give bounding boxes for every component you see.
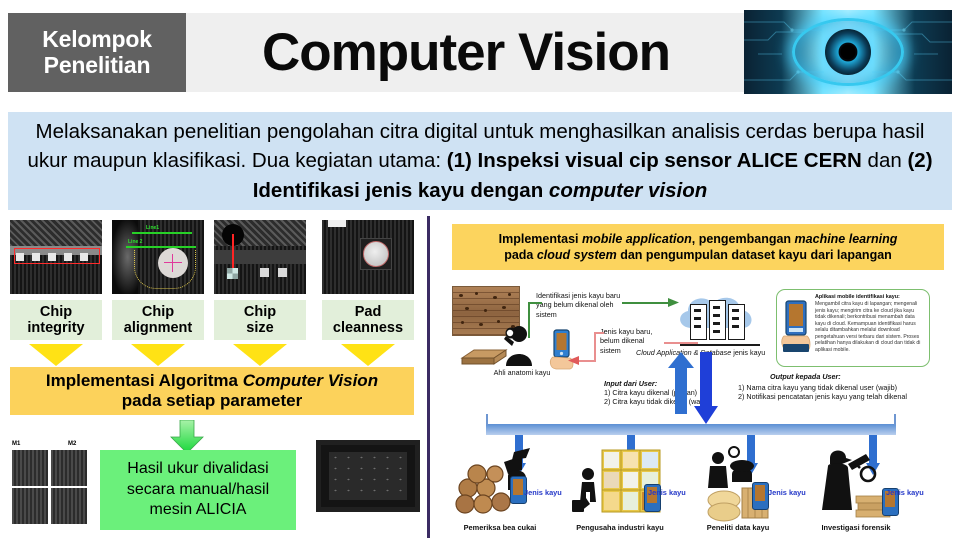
cyber-eye-icon: [744, 10, 952, 94]
obox-f: cloud system: [537, 248, 617, 262]
persona-tag-3: Jenis kayu: [768, 488, 806, 497]
m-cell-2: [51, 450, 87, 486]
thumb-chip-integrity: [10, 220, 102, 294]
thumb-chip-alignment: Line1 Line 2: [112, 220, 204, 294]
pad-a: [260, 268, 269, 277]
obox-c: , pengembangan: [692, 232, 795, 246]
description-mid: dan: [862, 149, 908, 172]
persona-tag-1: Jenis kayu: [524, 488, 562, 497]
server-base: [680, 344, 760, 346]
persona-label-2: Pengusaha industri kayu: [560, 523, 680, 532]
red-connector-h0: [594, 332, 604, 334]
label-line-1: Pad: [355, 304, 382, 320]
ybox-line-1: Implementasi Algoritma Computer Vision: [46, 371, 378, 391]
bar-stub-right: [894, 414, 896, 425]
header: Kelompok Penelitian Computer Vision: [0, 0, 960, 103]
sensor-module-photo: [316, 440, 420, 512]
yellow-arrow-3-icon: [233, 344, 287, 366]
obox-line-2: pada cloud system dan pengumpulan datase…: [504, 247, 892, 263]
cloud-label-rest: jenis kayu: [731, 348, 765, 357]
persona-phone-icon: [752, 482, 769, 510]
red-connector-v: [594, 332, 596, 362]
label-line-1: Chip: [244, 304, 276, 320]
label-chip-integrity: Chip integrity: [10, 300, 102, 340]
yellow-arrow-4-icon: [341, 344, 395, 366]
wood-plank-icon: [460, 344, 508, 368]
badge-line-2: Penelitian: [44, 53, 151, 79]
m2-label: M2: [68, 441, 76, 447]
thumbnail-strip: Line1 Line 2 Chip integrity: [0, 220, 424, 340]
persona-label-1: Pemeriksa bea cukai: [440, 523, 560, 532]
algorithm-implementation-box: Implementasi Algoritma Computer Vision p…: [10, 367, 414, 415]
label-pad-cleanness: Pad cleanness: [322, 300, 414, 340]
phone-in-hand-icon: [781, 300, 811, 354]
sensor-module-surface: [329, 452, 407, 500]
red-arrowhead-icon: [568, 355, 579, 366]
pad-b: [278, 268, 287, 277]
line2-label: Line 2: [128, 239, 142, 245]
description-italic-2: computer vision: [549, 179, 707, 202]
description-bold-1: (1) Inspeksi visual cip sensor ALICE CER…: [447, 149, 862, 172]
m-grid-image: M1 M2 M3 M4: [10, 440, 88, 528]
persona-forensic: [812, 444, 920, 530]
persona-timber: [572, 444, 680, 530]
validation-result-box: Hasil ukur divalidasi secara manual/hasi…: [100, 450, 296, 530]
yellow-arrow-2-icon: [131, 344, 185, 366]
contour-trace: [134, 250, 196, 289]
line1-marker: [132, 232, 192, 234]
persona-customs: [452, 444, 560, 530]
bar-stub-left: [486, 414, 488, 425]
gbox-line-2: secara manual/hasil: [127, 480, 269, 500]
timber-industry-icon: [572, 444, 680, 530]
obox-g: dan pengumpulan dataset kayu dari lapang…: [617, 248, 892, 262]
measure-marker: [227, 268, 238, 279]
ybox-line-2: pada setiap parameter: [122, 391, 302, 411]
persona-tag-4: Jenis kayu: [886, 488, 924, 497]
green-note: Identifikasi jenis kayu baru yang belum …: [536, 291, 622, 319]
download-arrow-icon: [694, 352, 718, 424]
green-connector-h2: [622, 302, 674, 304]
thumb-chip-size: [214, 220, 306, 294]
roi-rectangle-icon: [14, 248, 100, 264]
research-group-badge: Kelompok Penelitian: [8, 13, 186, 92]
slide-root: Kelompok Penelitian Computer Vision: [0, 0, 960, 540]
persona-label-3: Peneliti data kayu: [678, 523, 798, 532]
forensic-investigator-icon: [812, 444, 920, 530]
label-line-2: alignment: [124, 320, 192, 336]
input-title: Input dari User:: [604, 379, 657, 388]
thumb-pad-cleanness: [322, 220, 414, 294]
green-arrow-icon: [170, 420, 204, 454]
persona-tag-2: Jenis kayu: [648, 488, 686, 497]
yellow-arrow-1-icon: [29, 344, 83, 366]
app-card-title: Aplikasi mobile identifikasi kayu:: [815, 294, 925, 300]
m1-label: M1: [12, 441, 20, 447]
label-line-1: Chip: [142, 304, 174, 320]
output-title: Output kepada User:: [770, 372, 841, 381]
mobile-app-description-card: Aplikasi mobile identifikasi kayu: Menga…: [776, 289, 930, 367]
gbox-line-1: Hasil ukur divalidasi: [127, 459, 269, 479]
app-card-body: Mengambil citra kayu di lapangan; mengen…: [815, 301, 925, 353]
chip-hatch: [10, 220, 102, 246]
obox-b: mobile application: [582, 232, 692, 246]
obox-d: machine learning: [795, 232, 898, 246]
ybox-text-b: Computer Vision: [243, 371, 378, 390]
gbox-line-3: mesin ALICIA: [127, 500, 269, 520]
green-connector-h1: [528, 302, 542, 304]
m-cell-1: [12, 450, 48, 486]
title-plate: Computer Vision: [186, 13, 746, 92]
line1-label: Line1: [146, 225, 159, 231]
m-cell-3: [51, 488, 87, 524]
obox-a: Implementasi: [499, 232, 582, 246]
green-connector-v: [528, 302, 530, 338]
obox-e: pada: [504, 248, 537, 262]
obox-line-1: Implementasi mobile application, pengemb…: [499, 231, 898, 247]
mobile-implementation-box: Implementasi mobile application, pengemb…: [452, 224, 944, 270]
persona-researcher: [690, 444, 798, 530]
distribution-bar: [486, 424, 896, 435]
badge-line-1: Kelompok: [42, 27, 152, 53]
persona-label-4: Investigasi forensik: [796, 523, 916, 532]
solder-ball: [363, 241, 389, 267]
label-chip-alignment: Chip alignment: [112, 300, 204, 340]
wood-researcher-icon: [690, 444, 798, 530]
column-divider: [427, 216, 430, 538]
eye-pupil: [841, 45, 856, 60]
page-title: Computer Vision: [262, 22, 670, 83]
ybox-text-a: Implementasi Algoritma: [46, 371, 243, 390]
customs-inspector-logs-icon: [452, 444, 560, 530]
output-item-2: 2) Notifikasi pencatatan jenis kayu yang…: [738, 392, 907, 401]
description-banner: Melaksanakan penelitian pengolahan citra…: [8, 112, 952, 210]
label-chip-size: Chip size: [214, 300, 306, 340]
mid-band: [214, 250, 306, 264]
label-line-2: integrity: [27, 320, 84, 336]
server-stack-icon: [690, 300, 748, 342]
measure-line: [232, 234, 234, 272]
label-line-2: size: [246, 320, 273, 336]
label-line-1: Chip: [40, 304, 72, 320]
label-line-2: cleanness: [333, 320, 403, 336]
upload-arrow-icon: [668, 352, 694, 414]
line2-marker: [126, 246, 196, 248]
top-pad: [328, 220, 346, 227]
m-cell-4: [12, 488, 48, 524]
output-item-1: 1) Nama citra kayu yang tidak dikenal us…: [738, 383, 897, 392]
